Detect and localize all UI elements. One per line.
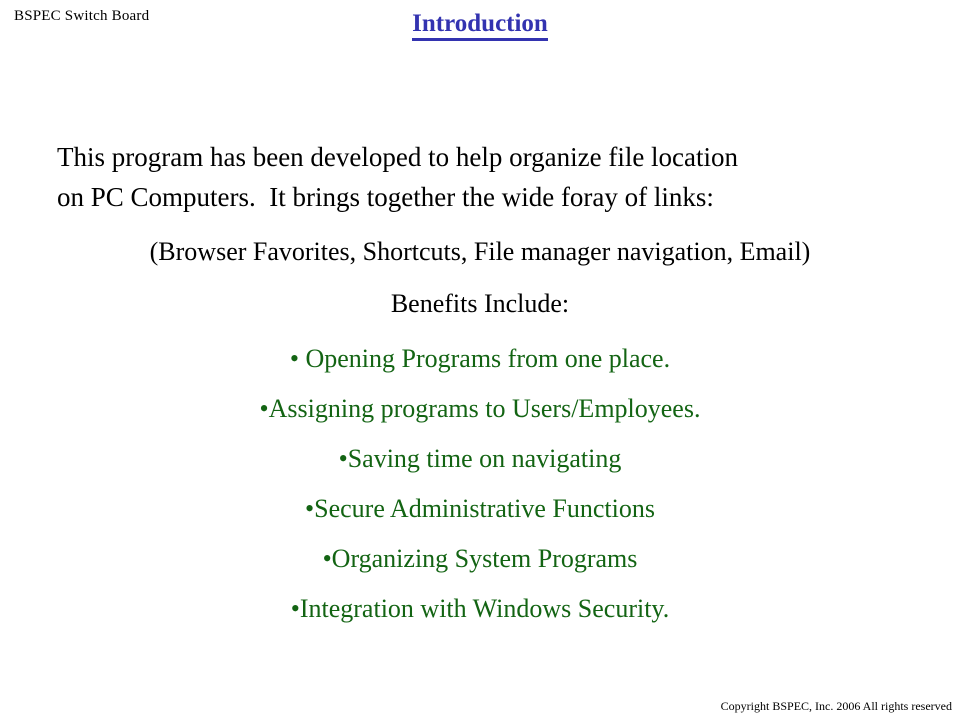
- list-item: •Secure Administrative Functions: [0, 484, 960, 534]
- intro-paragraph-line-2: on PC Computers. It brings together the …: [57, 177, 937, 217]
- list-item: •Organizing System Programs: [0, 534, 960, 584]
- intro-paragraph-line-1: This program has been developed to help …: [57, 137, 937, 177]
- list-item: •Integration with Windows Security.: [0, 584, 960, 634]
- list-item: • Opening Programs from one place.: [0, 334, 960, 384]
- page-title-text: Introduction: [412, 10, 548, 41]
- list-item: •Assigning programs to Users/Employees.: [0, 384, 960, 434]
- links-summary-line: (Browser Favorites, Shortcuts, File mana…: [0, 234, 960, 270]
- benefits-list: • Opening Programs from one place. •Assi…: [0, 334, 960, 634]
- page-title: Introduction: [0, 9, 960, 39]
- benefits-heading: Benefits Include:: [0, 286, 960, 322]
- list-item: •Saving time on navigating: [0, 434, 960, 484]
- intro-paragraph: This program has been developed to help …: [57, 137, 937, 217]
- presentation-slide: BSPEC Switch Board Introduction This pro…: [0, 0, 960, 720]
- copyright-footer: Copyright BSPEC, Inc. 2006 All rights re…: [721, 698, 952, 714]
